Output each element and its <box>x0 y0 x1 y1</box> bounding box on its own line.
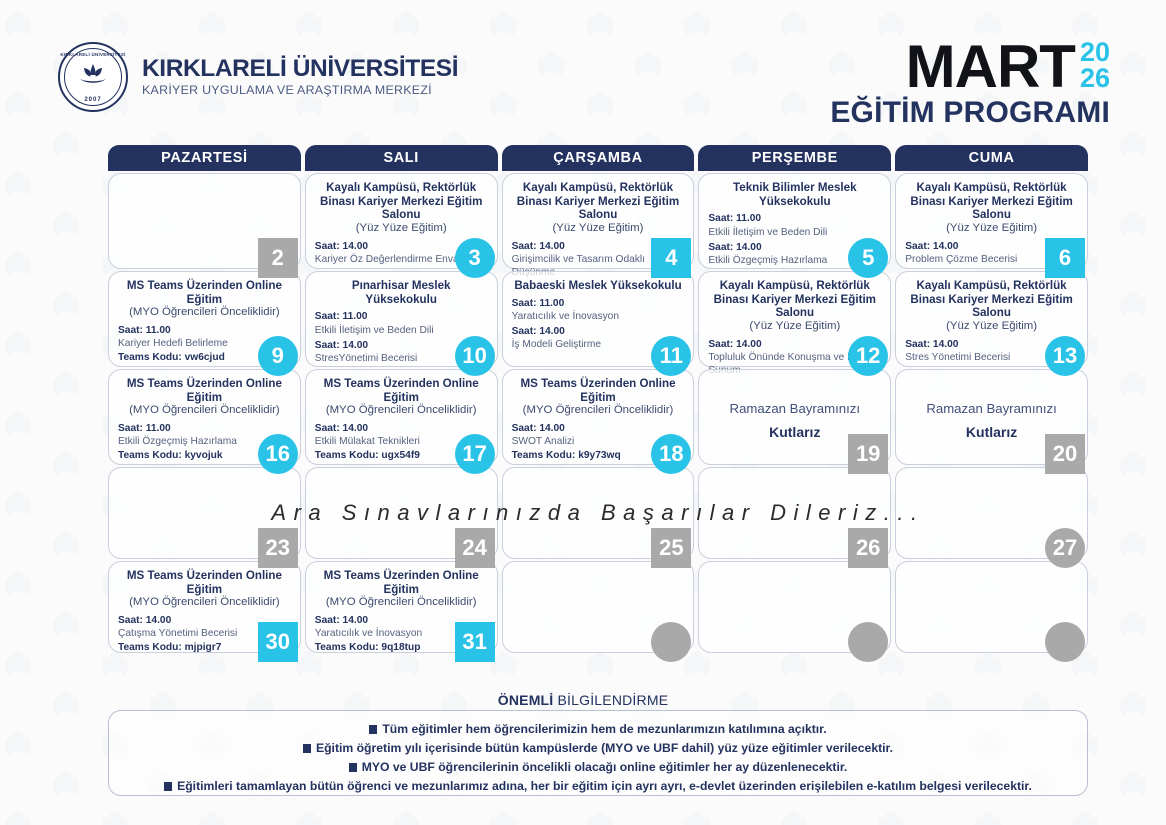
event-time: Saat: 14.00 <box>512 325 685 338</box>
day-cell-23[interactable]: 23 <box>108 467 301 559</box>
footer-note: Tüm eğitimler hem öğrencilerimizin hem d… <box>121 720 1075 739</box>
event-mode-subtitle: (MYO Öğrencileri Önceliklidir) <box>118 404 291 418</box>
day-cell-18[interactable]: MS Teams Üzerinden Online Eğitim(MYO Öğr… <box>502 369 695 465</box>
holiday-line-1: Ramazan Bayramınızı <box>730 401 860 416</box>
seal-year-text: 2007 <box>84 97 101 103</box>
day-number-badge-5: 5 <box>848 238 888 278</box>
seal-top-text: KIRKLARELİ ÜNİVERSİTESİ <box>60 52 125 57</box>
footer-note-text: Eğitimleri tamamlayan bütün öğrenci ve m… <box>177 779 1032 793</box>
calendar-week-row: MS Teams Üzerinden Online Eğitim(MYO Öğr… <box>108 271 1088 367</box>
day-cell-19[interactable]: Ramazan BayramınızıKutlarız19 <box>698 369 891 465</box>
event-location-title: Kayalı Kampüsü, Rektörlük Binası Kariyer… <box>315 181 488 222</box>
event-location-title: Pınarhisar Meslek Yüksekokulu <box>315 279 488 306</box>
title-block: MART 20 26 EĞİTİM PROGRAMI <box>830 38 1110 128</box>
footer-title-rest: BİLGİLENDİRME <box>553 692 668 708</box>
day-number-badge-4: 4 <box>651 238 691 278</box>
footer-notes-box: Tüm eğitimler hem öğrencilerimizin hem d… <box>108 710 1088 796</box>
day-cell-20[interactable]: Ramazan BayramınızıKutlarız20 <box>895 369 1088 465</box>
day-number-badge-3: 3 <box>455 238 495 278</box>
bullet-square-icon <box>164 782 172 791</box>
brand-block: KIRKLARELİ ÜNİVERSİTESİ 2007 KIRKLARELİ … <box>58 42 458 112</box>
event-time: Saat: 11.00 <box>118 422 291 435</box>
calendar-week-row: 2324252627Ara Sınavlarınızda Başarılar D… <box>108 467 1088 559</box>
university-seal-icon: KIRKLARELİ ÜNİVERSİTESİ 2007 <box>58 42 128 112</box>
calendar-week-row: MS Teams Üzerinden Online Eğitim(MYO Öğr… <box>108 369 1088 465</box>
event-mode-subtitle: (Yüz Yüze Eğitim) <box>315 222 488 236</box>
day-number-badge-10: 10 <box>455 336 495 376</box>
day-number-badge-19: 19 <box>848 434 888 474</box>
day-cell-9[interactable]: MS Teams Üzerinden Online Eğitim(MYO Öğr… <box>108 271 301 367</box>
holiday-line-1: Ramazan Bayramınızı <box>926 401 1056 416</box>
day-number-badge-25: 25 <box>651 528 691 568</box>
event-time: Saat: 14.00 <box>315 422 488 435</box>
day-cell-31[interactable]: MS Teams Üzerinden Online Eğitim(MYO Öğr… <box>305 561 498 653</box>
tulip-logo-icon <box>76 62 110 86</box>
day-number-badge-empty <box>651 622 691 662</box>
footer-note-text: Eğitim öğretim yılı içerisinde bütün kam… <box>316 741 893 755</box>
day-cell-empty[interactable] <box>698 561 891 653</box>
day-cell-12[interactable]: Kayalı Kampüsü, Rektörlük Binası Kariyer… <box>698 271 891 367</box>
day-number-badge-empty <box>1045 622 1085 662</box>
day-header-row: PAZARTESİSALIÇARŞAMBAPERŞEMBECUMA <box>108 145 1088 171</box>
calendar: PAZARTESİSALIÇARŞAMBAPERŞEMBECUMA 2Kayal… <box>108 145 1088 653</box>
event-location-title: Kayalı Kampüsü, Rektörlük Binası Kariyer… <box>905 181 1078 222</box>
footer-note: Eğitim öğretim yılı içerisinde bütün kam… <box>121 739 1075 758</box>
day-number-badge-23: 23 <box>258 528 298 568</box>
day-header-cuma: CUMA <box>895 145 1088 171</box>
day-cell-26[interactable]: 26 <box>698 467 891 559</box>
day-header-çarşamba: ÇARŞAMBA <box>502 145 695 171</box>
event-location-title: Teknik Bilimler Meslek Yüksekokulu <box>708 181 881 208</box>
day-number-badge-24: 24 <box>455 528 495 568</box>
event-location-title: MS Teams Üzerinden Online Eğitim <box>315 377 488 404</box>
day-cell-25[interactable]: 25 <box>502 467 695 559</box>
day-number-badge-6: 6 <box>1045 238 1085 278</box>
event-mode-subtitle: (MYO Öğrencileri Önceliklidir) <box>512 404 685 418</box>
day-cell-17[interactable]: MS Teams Üzerinden Online Eğitim(MYO Öğr… <box>305 369 498 465</box>
event-mode-subtitle: (Yüz Yüze Eğitim) <box>905 320 1078 334</box>
event-time: Saat: 11.00 <box>315 310 488 323</box>
calendar-week-row: 2Kayalı Kampüsü, Rektörlük Binası Kariye… <box>108 173 1088 269</box>
event-slot: Saat: 11.00Etkili İletişim ve Beden Dili <box>315 310 488 337</box>
event-topic: Etkili İletişim ve Beden Dili <box>315 324 488 337</box>
event-mode-subtitle: (Yüz Yüze Eğitim) <box>905 222 1078 236</box>
month-title: MART <box>906 38 1075 95</box>
event-location-title: MS Teams Üzerinden Online Eğitim <box>118 377 291 404</box>
day-cell-5[interactable]: Teknik Bilimler Meslek YüksekokuluSaat: … <box>698 173 891 269</box>
day-number-badge-27: 27 <box>1045 528 1085 568</box>
day-number-badge-31: 31 <box>455 622 495 662</box>
footer-note-text: MYO ve UBF öğrencilerinin öncelikli olac… <box>362 760 848 774</box>
day-cell-13[interactable]: Kayalı Kampüsü, Rektörlük Binası Kariyer… <box>895 271 1088 367</box>
day-cell-2[interactable]: 2 <box>108 173 301 269</box>
day-cell-3[interactable]: Kayalı Kampüsü, Rektörlük Binası Kariyer… <box>305 173 498 269</box>
holiday-line-2: Kutlarız <box>769 424 820 440</box>
day-number-badge-26: 26 <box>848 528 888 568</box>
day-number-badge-empty <box>848 622 888 662</box>
event-mode-subtitle: (MYO Öğrencileri Önceliklidir) <box>118 306 291 320</box>
calendar-week-row: MS Teams Üzerinden Online Eğitim(MYO Öğr… <box>108 561 1088 653</box>
event-location-title: MS Teams Üzerinden Online Eğitim <box>512 377 685 404</box>
university-name: KIRKLARELİ ÜNİVERSİTESİ <box>142 56 458 82</box>
event-location-title: Kayalı Kampüsü, Rektörlük Binası Kariyer… <box>512 181 685 222</box>
event-location-title: MS Teams Üzerinden Online Eğitim <box>315 569 488 596</box>
day-number-badge-2: 2 <box>258 238 298 278</box>
day-cell-empty[interactable] <box>502 561 695 653</box>
day-cell-30[interactable]: MS Teams Üzerinden Online Eğitim(MYO Öğr… <box>108 561 301 653</box>
day-number-badge-9: 9 <box>258 336 298 376</box>
event-time: Saat: 11.00 <box>708 212 881 225</box>
day-header-pazartesi̇: PAZARTESİ <box>108 145 301 171</box>
day-number-badge-30: 30 <box>258 622 298 662</box>
bullet-square-icon <box>349 763 357 772</box>
day-number-badge-20: 20 <box>1045 434 1085 474</box>
event-mode-subtitle: (MYO Öğrencileri Önceliklidir) <box>315 404 488 418</box>
holiday-line-2: Kutlarız <box>966 424 1017 440</box>
day-number-badge-16: 16 <box>258 434 298 474</box>
year-bottom: 26 <box>1080 66 1110 92</box>
event-topic: Etkili İletişim ve Beden Dili <box>708 226 881 239</box>
day-cell-16[interactable]: MS Teams Üzerinden Online Eğitim(MYO Öğr… <box>108 369 301 465</box>
event-mode-subtitle: (Yüz Yüze Eğitim) <box>708 320 881 334</box>
event-time: Saat: 11.00 <box>118 324 291 337</box>
event-topic: Yaratıcılık ve İnovasyon <box>512 310 685 323</box>
event-time: Saat: 14.00 <box>512 422 685 435</box>
center-name: KARİYER UYGULAMA VE ARAŞTIRMA MERKEZİ <box>142 83 458 99</box>
event-location-title: MS Teams Üzerinden Online Eğitim <box>118 569 291 596</box>
day-cell-6[interactable]: Kayalı Kampüsü, Rektörlük Binası Kariyer… <box>895 173 1088 269</box>
footer-note: MYO ve UBF öğrencilerinin öncelikli olac… <box>121 758 1075 777</box>
day-header-perşembe: PERŞEMBE <box>698 145 891 171</box>
event-location-title: Kayalı Kampüsü, Rektörlük Binası Kariyer… <box>708 279 881 320</box>
day-cell-empty[interactable] <box>895 561 1088 653</box>
day-number-badge-17: 17 <box>455 434 495 474</box>
event-mode-subtitle: (MYO Öğrencileri Önceliklidir) <box>315 596 488 610</box>
program-subtitle: EĞİTİM PROGRAMI <box>830 98 1110 128</box>
day-number-badge-12: 12 <box>848 336 888 376</box>
day-header-sali: SALI <box>305 145 498 171</box>
footer-note: Eğitimleri tamamlayan bütün öğrenci ve m… <box>121 777 1075 796</box>
bullet-square-icon <box>369 725 377 734</box>
calendar-weeks: 2Kayalı Kampüsü, Rektörlük Binası Kariye… <box>108 173 1088 653</box>
day-cell-24[interactable]: 24 <box>305 467 498 559</box>
event-time: Saat: 11.00 <box>512 297 685 310</box>
day-cell-27[interactable]: 27 <box>895 467 1088 559</box>
event-mode-subtitle: (MYO Öğrencileri Önceliklidir) <box>118 596 291 610</box>
event-location-title: Kayalı Kampüsü, Rektörlük Binası Kariyer… <box>905 279 1078 320</box>
bullet-square-icon <box>303 744 311 753</box>
footer-title-bold: ÖNEMLİ <box>498 692 554 708</box>
event-mode-subtitle: (Yüz Yüze Eğitim) <box>512 222 685 236</box>
event-slot: Saat: 11.00Yaratıcılık ve İnovasyon <box>512 297 685 324</box>
event-location-title: Babaeski Meslek Yüksekokulu <box>512 279 685 293</box>
page-header: KIRKLARELİ ÜNİVERSİTESİ 2007 KIRKLARELİ … <box>0 0 1166 135</box>
footer-note-text: Tüm eğitimler hem öğrencilerimizin hem d… <box>382 722 826 736</box>
event-slot: Saat: 11.00Etkili İletişim ve Beden Dili <box>708 212 881 239</box>
day-cell-4[interactable]: Kayalı Kampüsü, Rektörlük Binası Kariyer… <box>502 173 695 269</box>
day-cell-10[interactable]: Pınarhisar Meslek YüksekokuluSaat: 11.00… <box>305 271 498 367</box>
day-number-badge-13: 13 <box>1045 336 1085 376</box>
day-cell-11[interactable]: Babaeski Meslek YüksekokuluSaat: 11.00Ya… <box>502 271 695 367</box>
footer-title: ÖNEMLİ BİLGİLENDİRME <box>0 692 1166 708</box>
event-location-title: MS Teams Üzerinden Online Eğitim <box>118 279 291 306</box>
